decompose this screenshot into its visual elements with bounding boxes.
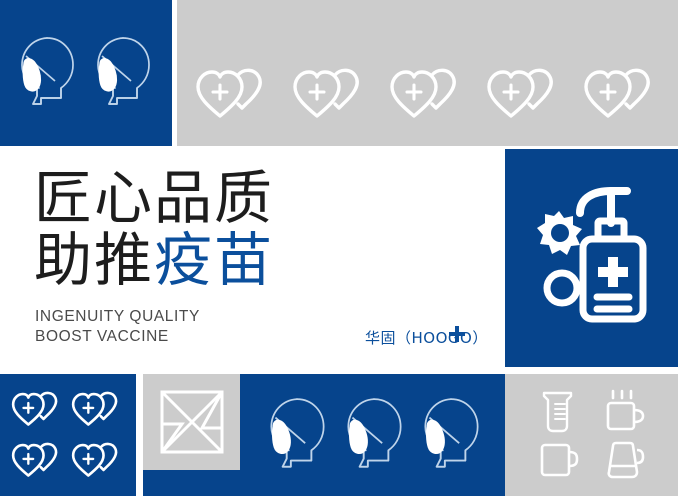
double-heart-plus-icon xyxy=(483,66,567,124)
headline-line-2: 助推疫苗 xyxy=(34,229,274,291)
double-heart-plus-icon xyxy=(386,66,470,124)
subtitle-line-1: INGENUITY QUALITY xyxy=(35,307,200,327)
double-heart-plus-icon xyxy=(192,66,276,124)
double-heart-plus-icon xyxy=(69,440,127,482)
kettle-icon xyxy=(601,438,647,482)
double-heart-plus-icon xyxy=(9,389,67,431)
mug-icon xyxy=(537,439,581,481)
brand-name: 华固（HOOGO） xyxy=(365,327,488,348)
double-heart-plus-icon xyxy=(69,389,127,431)
headline-line-2-dark: 助推 xyxy=(34,226,154,294)
steaming-mug-icon xyxy=(601,388,647,434)
subtitle-block: INGENUITY QUALITY BOOST VACCINE xyxy=(35,307,200,347)
masked-face-icon xyxy=(93,34,155,112)
sanitizer-bottle-icon xyxy=(517,171,667,346)
mask-icon-row xyxy=(245,374,505,496)
beaker-icon xyxy=(539,388,579,434)
sanitizer-icon-group xyxy=(505,149,678,367)
small-circle-icon xyxy=(547,273,577,303)
panel-masks-three xyxy=(245,374,505,496)
double-heart-plus-icon xyxy=(580,66,664,124)
panel-image-placeholder xyxy=(143,374,240,470)
panel-sanitizer xyxy=(505,149,678,367)
headline-line-2-accent: 疫苗 xyxy=(154,226,274,294)
virus-germ-icon xyxy=(537,211,582,255)
heart-icon-row xyxy=(177,0,678,146)
masked-face-icon xyxy=(266,395,330,475)
panel-headline: 匠心品质 助推疫苗 INGENUITY QUALITY BOOST VACCIN… xyxy=(0,149,499,367)
masked-face-icon xyxy=(17,34,79,112)
plus-cross-icon xyxy=(447,324,467,344)
double-heart-plus-icon xyxy=(289,66,373,124)
labware-icon-grid xyxy=(505,374,678,496)
masked-face-icon xyxy=(343,395,407,475)
panel-mask-pair xyxy=(0,0,172,146)
headline-line-1: 匠心品质 xyxy=(34,167,274,229)
heart-icon-grid xyxy=(0,374,136,496)
headline-block: 匠心品质 助推疫苗 xyxy=(34,167,274,291)
panel-labware xyxy=(505,374,678,496)
double-heart-plus-icon xyxy=(9,440,67,482)
panel-hearts-grid xyxy=(0,374,136,496)
panel-hearts-row xyxy=(177,0,678,146)
masked-face-icon xyxy=(420,395,484,475)
broken-image-placeholder-icon xyxy=(158,388,226,456)
subtitle-line-2: BOOST VACCINE xyxy=(35,327,200,347)
mask-pair-group xyxy=(0,0,172,146)
poster-canvas: 匠心品质 助推疫苗 INGENUITY QUALITY BOOST VACCIN… xyxy=(0,0,678,496)
